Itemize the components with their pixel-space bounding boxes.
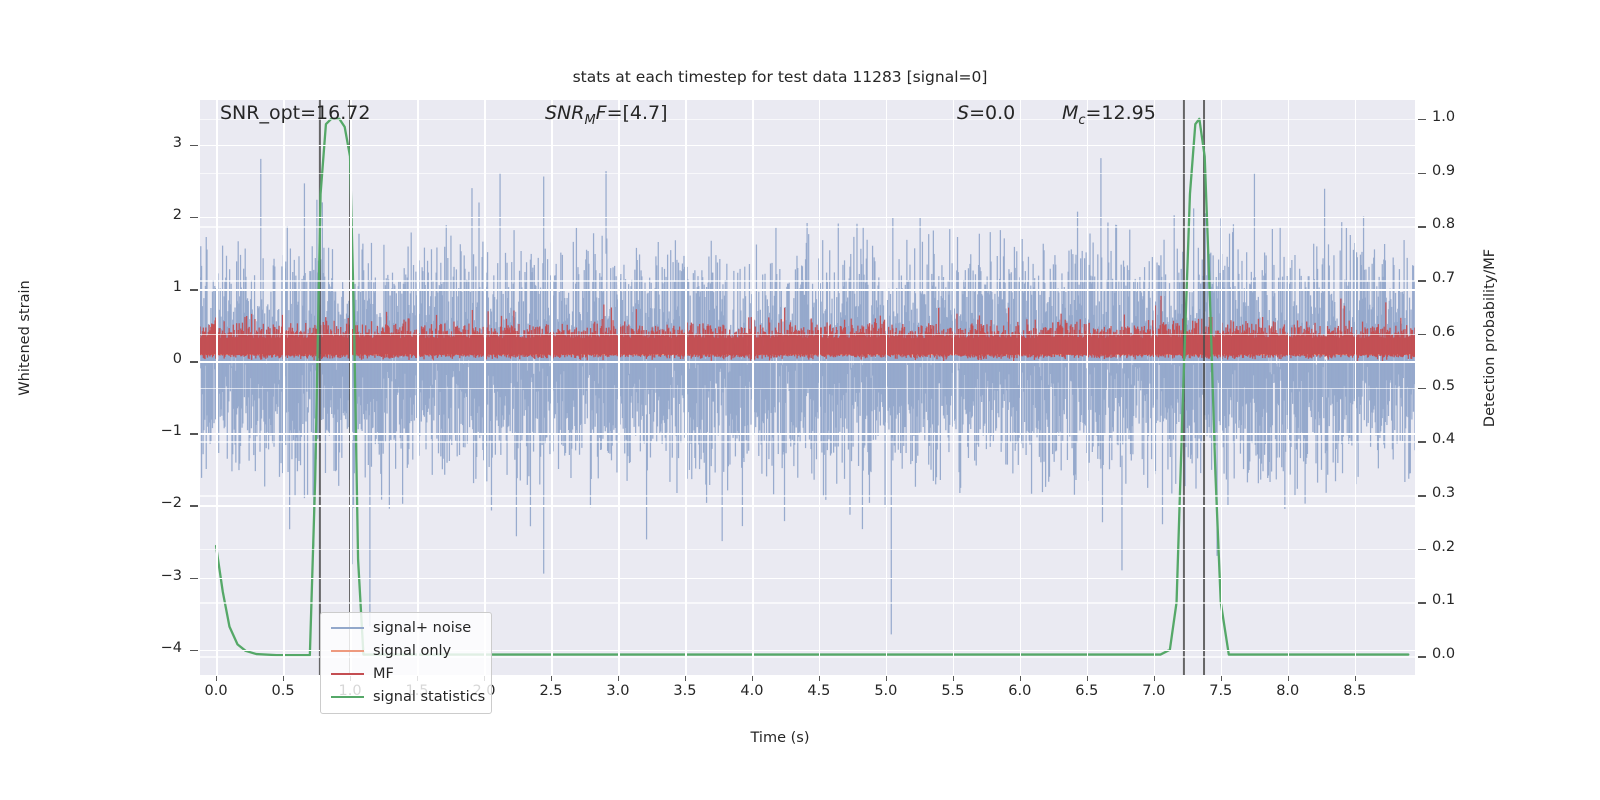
y2-tick-mark-3: [1418, 280, 1426, 282]
legend-label-0: signal+ noise: [373, 621, 471, 635]
legend-item-2[interactable]: MF: [331, 667, 481, 681]
gridline-horizontal-strain-4: [200, 433, 1415, 435]
y2-tick-mark-2: [1418, 226, 1426, 228]
y2-tick-mark-4: [1418, 334, 1426, 336]
x-tick-label-6: 3.0: [588, 683, 648, 699]
x-tick-mark-16: [1288, 676, 1289, 681]
chart-title: stats at each timestep for test data 112…: [0, 68, 1580, 86]
x-tick-mark-0: [216, 676, 217, 681]
gridline-horizontal-strain-5: [200, 505, 1415, 507]
y2-tick-mark-10: [1418, 656, 1426, 658]
gridline-horizontal-strain-2: [200, 289, 1415, 291]
y2-tick-label-10: 0.0: [1432, 646, 1492, 662]
x-tick-label-8: 4.0: [722, 683, 782, 699]
y2-tick-mark-5: [1418, 388, 1426, 390]
annotation-snr-opt: SNR_opt=16.72: [220, 102, 370, 124]
gridline-horizontal-prob-1: [200, 173, 1415, 175]
legend-swatch-icon-1: [331, 650, 364, 652]
gridline-horizontal-prob-9: [200, 602, 1415, 604]
y2-tick-label-8: 0.2: [1432, 539, 1492, 555]
x-tick-label-10: 5.0: [856, 683, 916, 699]
x-tick-label-9: 4.5: [789, 683, 849, 699]
y-tick-label-5: −2: [120, 495, 182, 511]
gridline-horizontal-prob-7: [200, 495, 1415, 497]
x-tick-label-14: 7.0: [1124, 683, 1184, 699]
y-tick-mark-5: [190, 505, 198, 507]
y-tick-label-6: −3: [120, 568, 182, 584]
y-tick-label-1: 2: [120, 207, 182, 223]
x-tick-mark-10: [886, 676, 887, 681]
y2-tick-label-1: 0.9: [1432, 163, 1492, 179]
y2-tick-mark-1: [1418, 173, 1426, 175]
legend-label-2: MF: [373, 667, 394, 681]
x-tick-label-5: 2.5: [521, 683, 581, 699]
x-tick-mark-1: [283, 676, 284, 681]
y2-tick-mark-9: [1418, 602, 1426, 604]
y-axis-label: Whitened strain: [17, 188, 33, 488]
matplotlib-figure: stats at each timestep for test data 112…: [0, 0, 1600, 800]
y-tick-label-3: 0: [120, 351, 182, 367]
y2-tick-mark-7: [1418, 495, 1426, 497]
y-tick-mark-2: [190, 289, 198, 291]
gridline-horizontal-prob-4: [200, 334, 1415, 336]
gridline-horizontal-prob-0: [200, 119, 1415, 121]
y-tick-mark-7: [190, 650, 198, 652]
annotation-snr-mf: SNRMF=[4.7]: [545, 102, 668, 128]
x-tick-mark-5: [551, 676, 552, 681]
x-tick-mark-14: [1154, 676, 1155, 681]
series-signal-plus-noise: [200, 158, 1415, 634]
x-tick-mark-12: [1020, 676, 1021, 681]
legend-item-3[interactable]: signal statistics: [331, 690, 481, 704]
gridline-horizontal-prob-8: [200, 549, 1415, 551]
gridline-horizontal-prob-3: [200, 280, 1415, 282]
x-tick-label-11: 5.5: [923, 683, 983, 699]
plot-area: [200, 100, 1415, 675]
x-tick-mark-17: [1355, 676, 1356, 681]
y2-tick-label-0: 1.0: [1432, 109, 1492, 125]
x-tick-mark-11: [953, 676, 954, 681]
gridline-horizontal-strain-1: [200, 217, 1415, 219]
x-tick-mark-13: [1087, 676, 1088, 681]
legend-swatch-icon-2: [331, 673, 364, 675]
chart-legend[interactable]: signal+ noisesignal onlyMFsignal statist…: [320, 612, 492, 714]
y-tick-label-7: −4: [120, 640, 182, 656]
gridline-horizontal-prob-2: [200, 226, 1415, 228]
legend-label-3: signal statistics: [373, 690, 485, 704]
x-tick-label-16: 8.0: [1258, 683, 1318, 699]
legend-item-0[interactable]: signal+ noise: [331, 621, 481, 635]
legend-item-1[interactable]: signal only: [331, 644, 481, 658]
y-tick-mark-6: [190, 578, 198, 580]
secondary-y-axis-label: Detection probability/MF: [1482, 188, 1498, 488]
x-tick-label-7: 3.5: [655, 683, 715, 699]
x-tick-mark-9: [819, 676, 820, 681]
annotation-chirp-mass: Mc=12.95: [1062, 102, 1156, 128]
x-tick-mark-7: [685, 676, 686, 681]
x-tick-mark-8: [752, 676, 753, 681]
y2-tick-mark-6: [1418, 441, 1426, 443]
gridline-horizontal-prob-6: [200, 441, 1415, 443]
x-tick-mark-15: [1221, 676, 1222, 681]
annotation-s-value: S=0.0: [957, 102, 1015, 124]
y-tick-label-4: −1: [120, 423, 182, 439]
y-tick-mark-3: [190, 361, 198, 363]
y-tick-mark-0: [190, 145, 198, 147]
y2-tick-label-9: 0.1: [1432, 592, 1492, 608]
x-axis-label: Time (s): [0, 730, 1580, 746]
legend-swatch-icon-0: [331, 627, 364, 629]
legend-label-1: signal only: [373, 644, 451, 658]
legend-swatch-icon-3: [331, 696, 364, 698]
gridline-horizontal-strain-3: [200, 361, 1415, 363]
y-tick-label-2: 1: [120, 279, 182, 295]
y-tick-label-0: 3: [120, 135, 182, 151]
gridline-horizontal-strain-0: [200, 145, 1415, 147]
x-tick-label-1: 0.5: [253, 683, 313, 699]
x-tick-label-12: 6.0: [990, 683, 1050, 699]
x-tick-label-17: 8.5: [1325, 683, 1385, 699]
y2-tick-mark-0: [1418, 119, 1426, 121]
y-tick-mark-1: [190, 217, 198, 219]
y2-tick-mark-8: [1418, 549, 1426, 551]
x-tick-label-15: 7.5: [1191, 683, 1251, 699]
gridline-horizontal-strain-6: [200, 578, 1415, 580]
gridline-horizontal-prob-5: [200, 388, 1415, 390]
y-tick-mark-4: [190, 433, 198, 435]
x-tick-label-0: 0.0: [186, 683, 246, 699]
x-tick-mark-6: [618, 676, 619, 681]
x-tick-label-13: 6.5: [1057, 683, 1117, 699]
